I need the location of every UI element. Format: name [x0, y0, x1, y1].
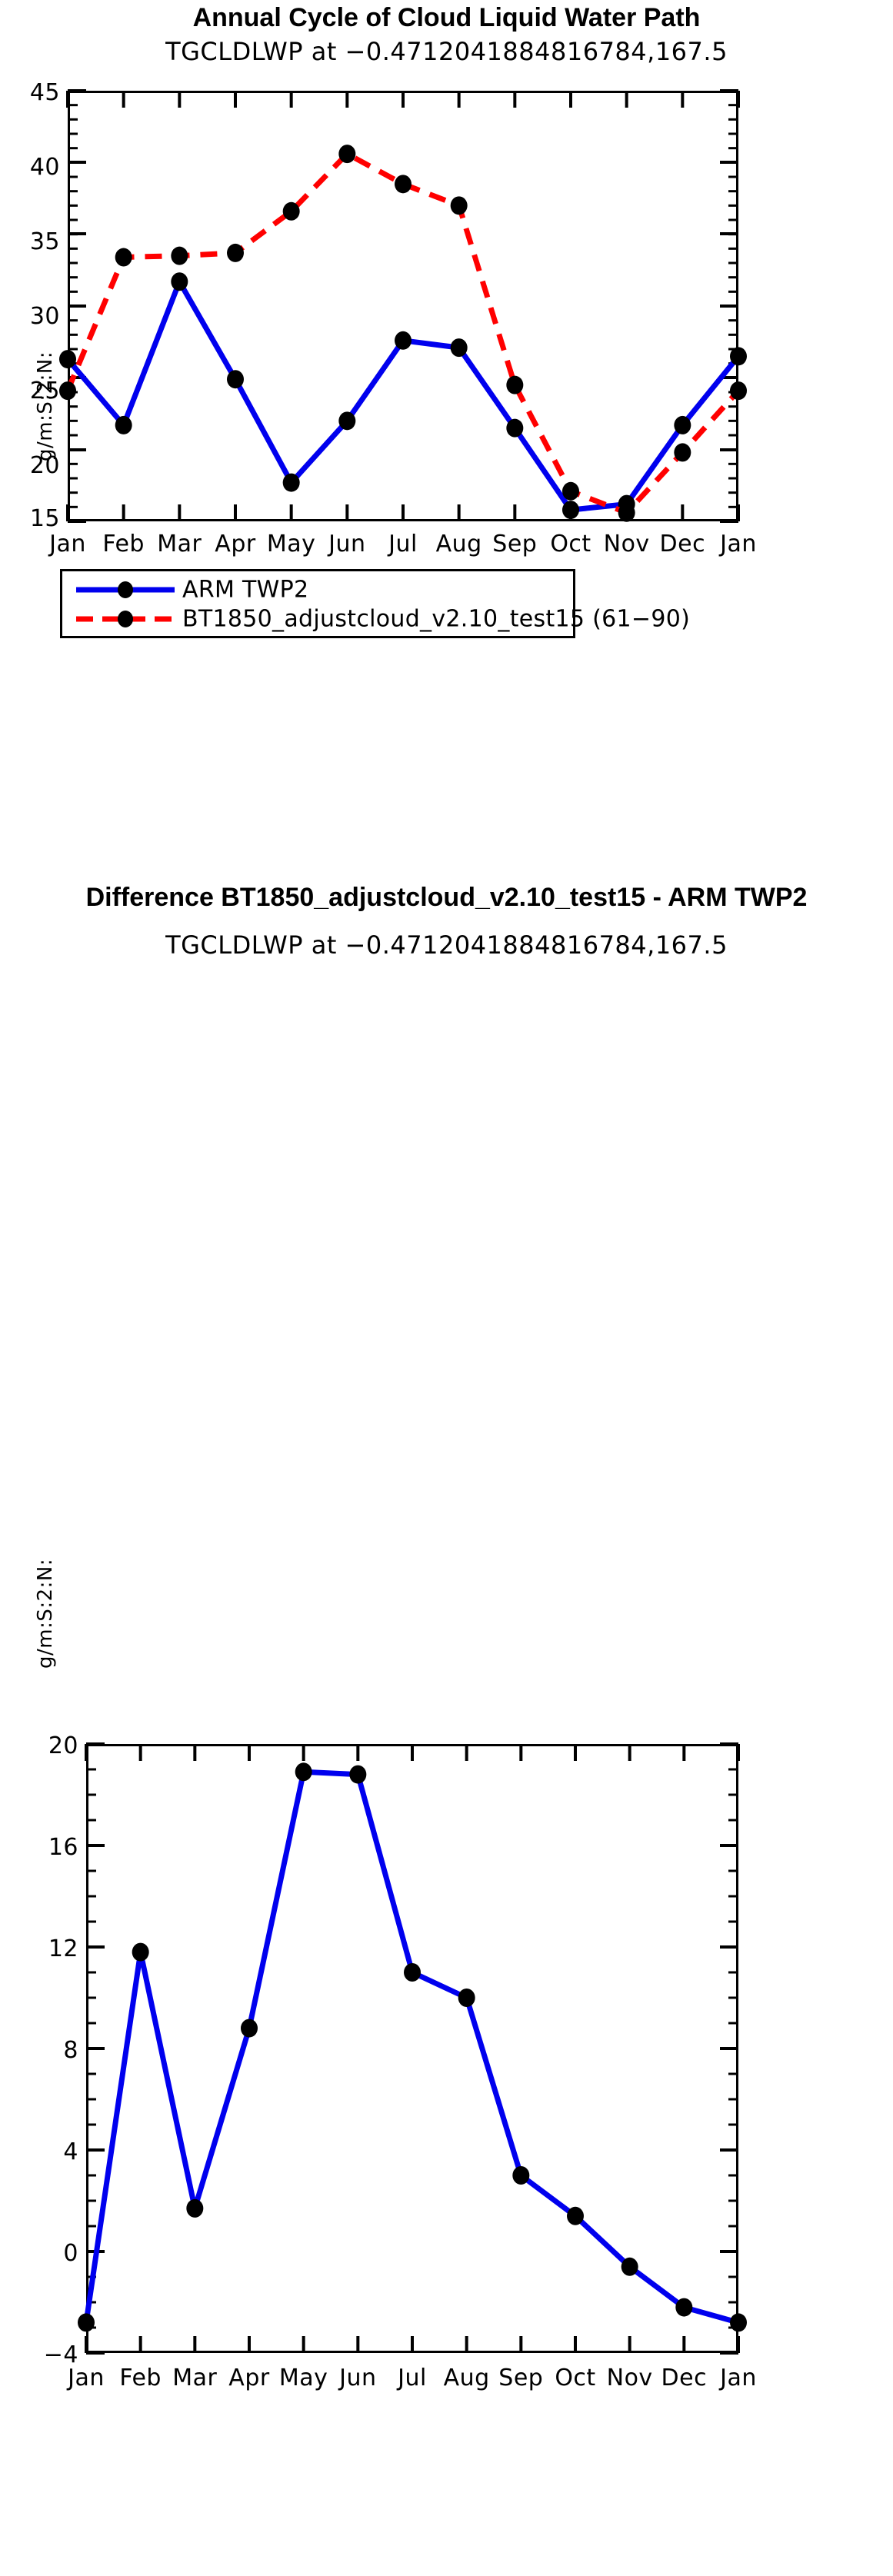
legend-label-arm: ARM TWP2 — [182, 577, 308, 604]
series-line-0 — [86, 1772, 738, 2322]
legend-line-dashed — [72, 604, 179, 634]
data-point-marker — [227, 244, 244, 262]
data-point-marker — [338, 145, 355, 163]
data-point-marker — [404, 1963, 421, 1982]
top-chart-panel: g/m:S:2:N: 45 40 35 30 25 20 15 — [0, 0, 893, 561]
data-point-marker — [674, 416, 691, 434]
data-point-marker — [295, 1762, 312, 1781]
legend-label-model: BT1850_adjustcloud_v2.10_test15 (61−90) — [182, 606, 690, 633]
data-point-marker — [59, 381, 76, 400]
data-point-marker — [506, 376, 523, 394]
data-point-marker — [562, 482, 579, 501]
legend-line-solid — [72, 575, 179, 604]
bottom-chart-ylabel: g/m:S:2:N: — [34, 1559, 57, 1669]
legend-entry-arm: ARM TWP2 — [62, 575, 573, 604]
data-point-marker — [451, 196, 468, 215]
data-point-marker — [674, 443, 691, 461]
data-point-marker — [458, 1989, 475, 2007]
data-point-marker — [115, 416, 132, 434]
data-point-marker — [675, 2298, 692, 2317]
data-point-marker — [567, 2207, 584, 2225]
bottom-axis-ticks — [86, 1744, 738, 2353]
data-point-marker — [171, 272, 188, 291]
data-point-marker — [395, 331, 412, 350]
data-point-marker — [621, 2258, 638, 2276]
bottom-xticks — [86, 1744, 738, 2353]
data-point-marker — [78, 2313, 95, 2331]
data-point-marker — [562, 501, 579, 519]
data-point-marker — [283, 202, 300, 221]
bottom-series-group — [78, 1762, 747, 2331]
data-point-marker — [618, 504, 635, 522]
bottom-chart-svg — [0, 1753, 893, 2576]
data-point-marker — [171, 247, 188, 265]
chart-legend: ARM TWP2 BT1850_adjustcloud_v2.10_test15… — [60, 569, 575, 638]
data-point-marker — [730, 2313, 747, 2331]
legend-entry-model: BT1850_adjustcloud_v2.10_test15 (61−90) — [62, 604, 573, 634]
data-point-marker — [227, 370, 244, 388]
top-series-group — [59, 145, 747, 522]
bottom-chart-panel: g/m:S:2:N: 20 16 12 8 4 0 −4 JanFebMarAp… — [0, 877, 893, 1699]
data-point-marker — [349, 1766, 366, 1784]
data-point-marker — [506, 419, 523, 438]
series-line-0 — [68, 281, 738, 510]
data-point-marker — [283, 474, 300, 492]
data-point-marker — [186, 2199, 203, 2218]
data-point-marker — [451, 338, 468, 357]
data-point-marker — [512, 2166, 529, 2185]
data-point-marker — [241, 2019, 258, 2038]
data-point-marker — [730, 347, 747, 365]
xtick-label: Jan — [700, 531, 777, 557]
data-point-marker — [730, 381, 747, 400]
data-point-marker — [338, 411, 355, 430]
data-point-marker — [115, 248, 132, 267]
bottom-minor-ticks — [86, 1744, 738, 2353]
xtick-label: Jan — [700, 2365, 777, 2391]
figure-page: Annual Cycle of Cloud Liquid Water Path … — [0, 0, 893, 1699]
top-chart-svg — [0, 0, 893, 561]
data-point-marker — [132, 1943, 149, 1962]
data-point-marker — [395, 175, 412, 193]
data-point-marker — [59, 350, 76, 368]
